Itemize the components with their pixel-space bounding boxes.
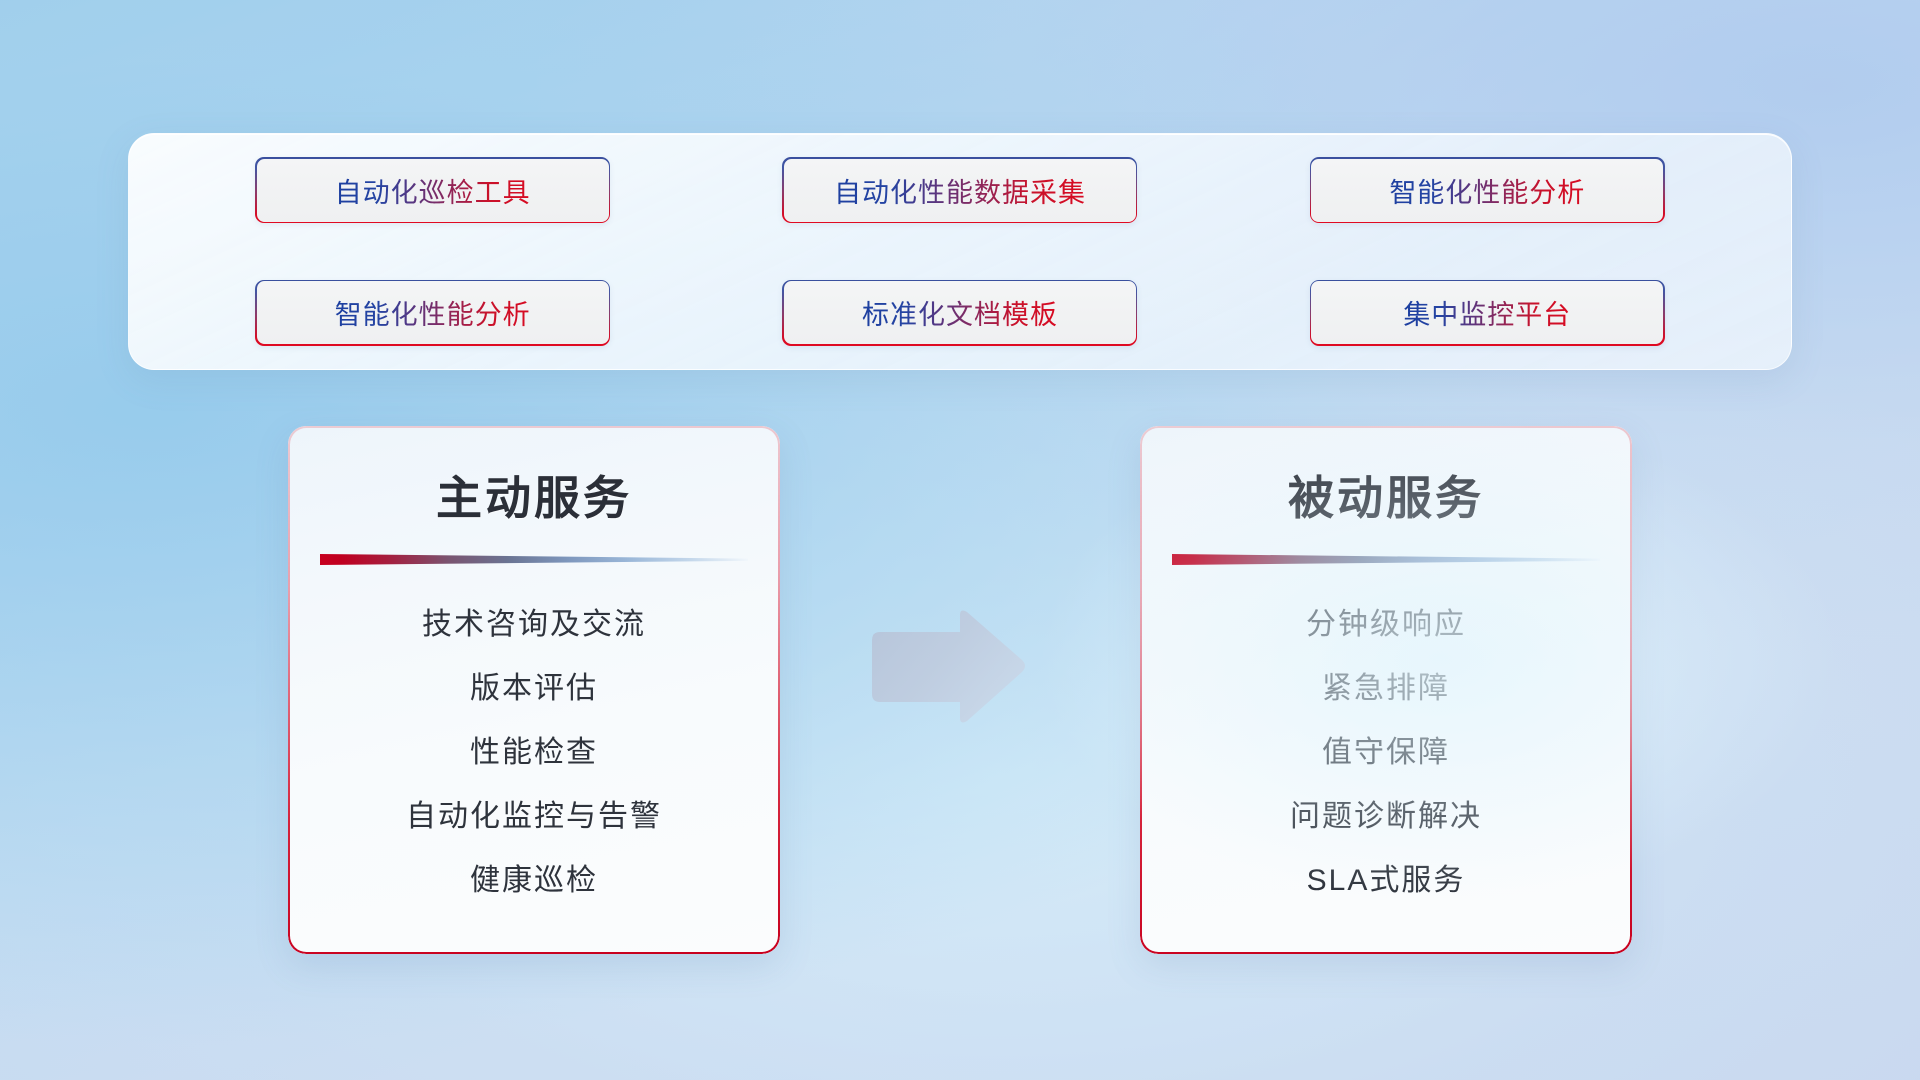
title-divider: [1172, 554, 1600, 565]
service-list-item: SLA式服务: [1307, 849, 1466, 913]
capability-tag[interactable]: 自动化性能数据采集: [782, 157, 1137, 223]
capability-tag-inner: 智能化性能分析: [257, 281, 609, 344]
capability-tag-grid: 自动化巡检工具 自动化性能数据采集 智能化性能分析 智能化性能分析: [129, 134, 1791, 369]
arrow-right-icon: [868, 608, 1028, 726]
service-card-title: 被动服务: [1140, 462, 1632, 528]
service-item-list: 技术咨询及交流 版本评估 性能检查 自动化监控与告警 健康巡检: [288, 593, 780, 913]
service-list-item: 紧急排障: [1322, 657, 1450, 721]
service-list-item: 自动化监控与告警: [406, 785, 662, 849]
service-card-passive[interactable]: 被动服务 分钟级响应 紧急排障 值守保障 问题诊断解决 SLA式服务: [1140, 426, 1632, 954]
service-list-item: 问题诊断解决: [1290, 785, 1482, 849]
service-list-item: 健康巡检: [470, 849, 598, 913]
capability-tag[interactable]: 智能化性能分析: [255, 280, 610, 346]
title-divider: [320, 554, 748, 565]
capability-tag-label: 智能化性能分析: [335, 293, 531, 332]
capability-tag[interactable]: 集中监控平台: [1310, 280, 1665, 346]
service-list-item: 性能检查: [470, 721, 598, 785]
capability-tag[interactable]: 标准化文档模板: [782, 280, 1137, 346]
capability-tag-label: 智能化性能分析: [1389, 171, 1585, 210]
capability-tags-panel: 自动化巡检工具 自动化性能数据采集 智能化性能分析 智能化性能分析: [128, 133, 1792, 370]
service-list-item: 技术咨询及交流: [422, 593, 646, 657]
capability-tag-label: 标准化文档模板: [862, 293, 1058, 332]
capability-tag-inner: 自动化性能数据采集: [784, 159, 1136, 222]
service-item-list: 分钟级响应 紧急排障 值守保障 问题诊断解决 SLA式服务: [1140, 593, 1632, 913]
slide-canvas: 自动化巡检工具 自动化性能数据采集 智能化性能分析 智能化性能分析: [0, 0, 1920, 1080]
capability-tag-label: 自动化性能数据采集: [834, 171, 1086, 210]
service-list-item: 分钟级响应: [1306, 593, 1466, 657]
capability-tag-inner: 标准化文档模板: [784, 281, 1136, 344]
capability-tag-label: 自动化巡检工具: [335, 171, 531, 210]
service-card-title: 主动服务: [288, 462, 780, 528]
capability-tag[interactable]: 智能化性能分析: [1310, 157, 1665, 223]
service-list-item: 值守保障: [1322, 721, 1450, 785]
service-list-item: 版本评估: [470, 657, 598, 721]
capability-tag-inner: 智能化性能分析: [1311, 159, 1663, 222]
capability-tag[interactable]: 自动化巡检工具: [255, 157, 610, 223]
capability-tag-inner: 集中监控平台: [1311, 281, 1663, 344]
capability-tag-inner: 自动化巡检工具: [257, 159, 609, 222]
service-card-active[interactable]: 主动服务 技术咨询及交流 版本评估 性能检查 自动化监控与告警 健康巡检: [288, 426, 780, 954]
capability-tag-label: 集中监控平台: [1403, 293, 1571, 332]
